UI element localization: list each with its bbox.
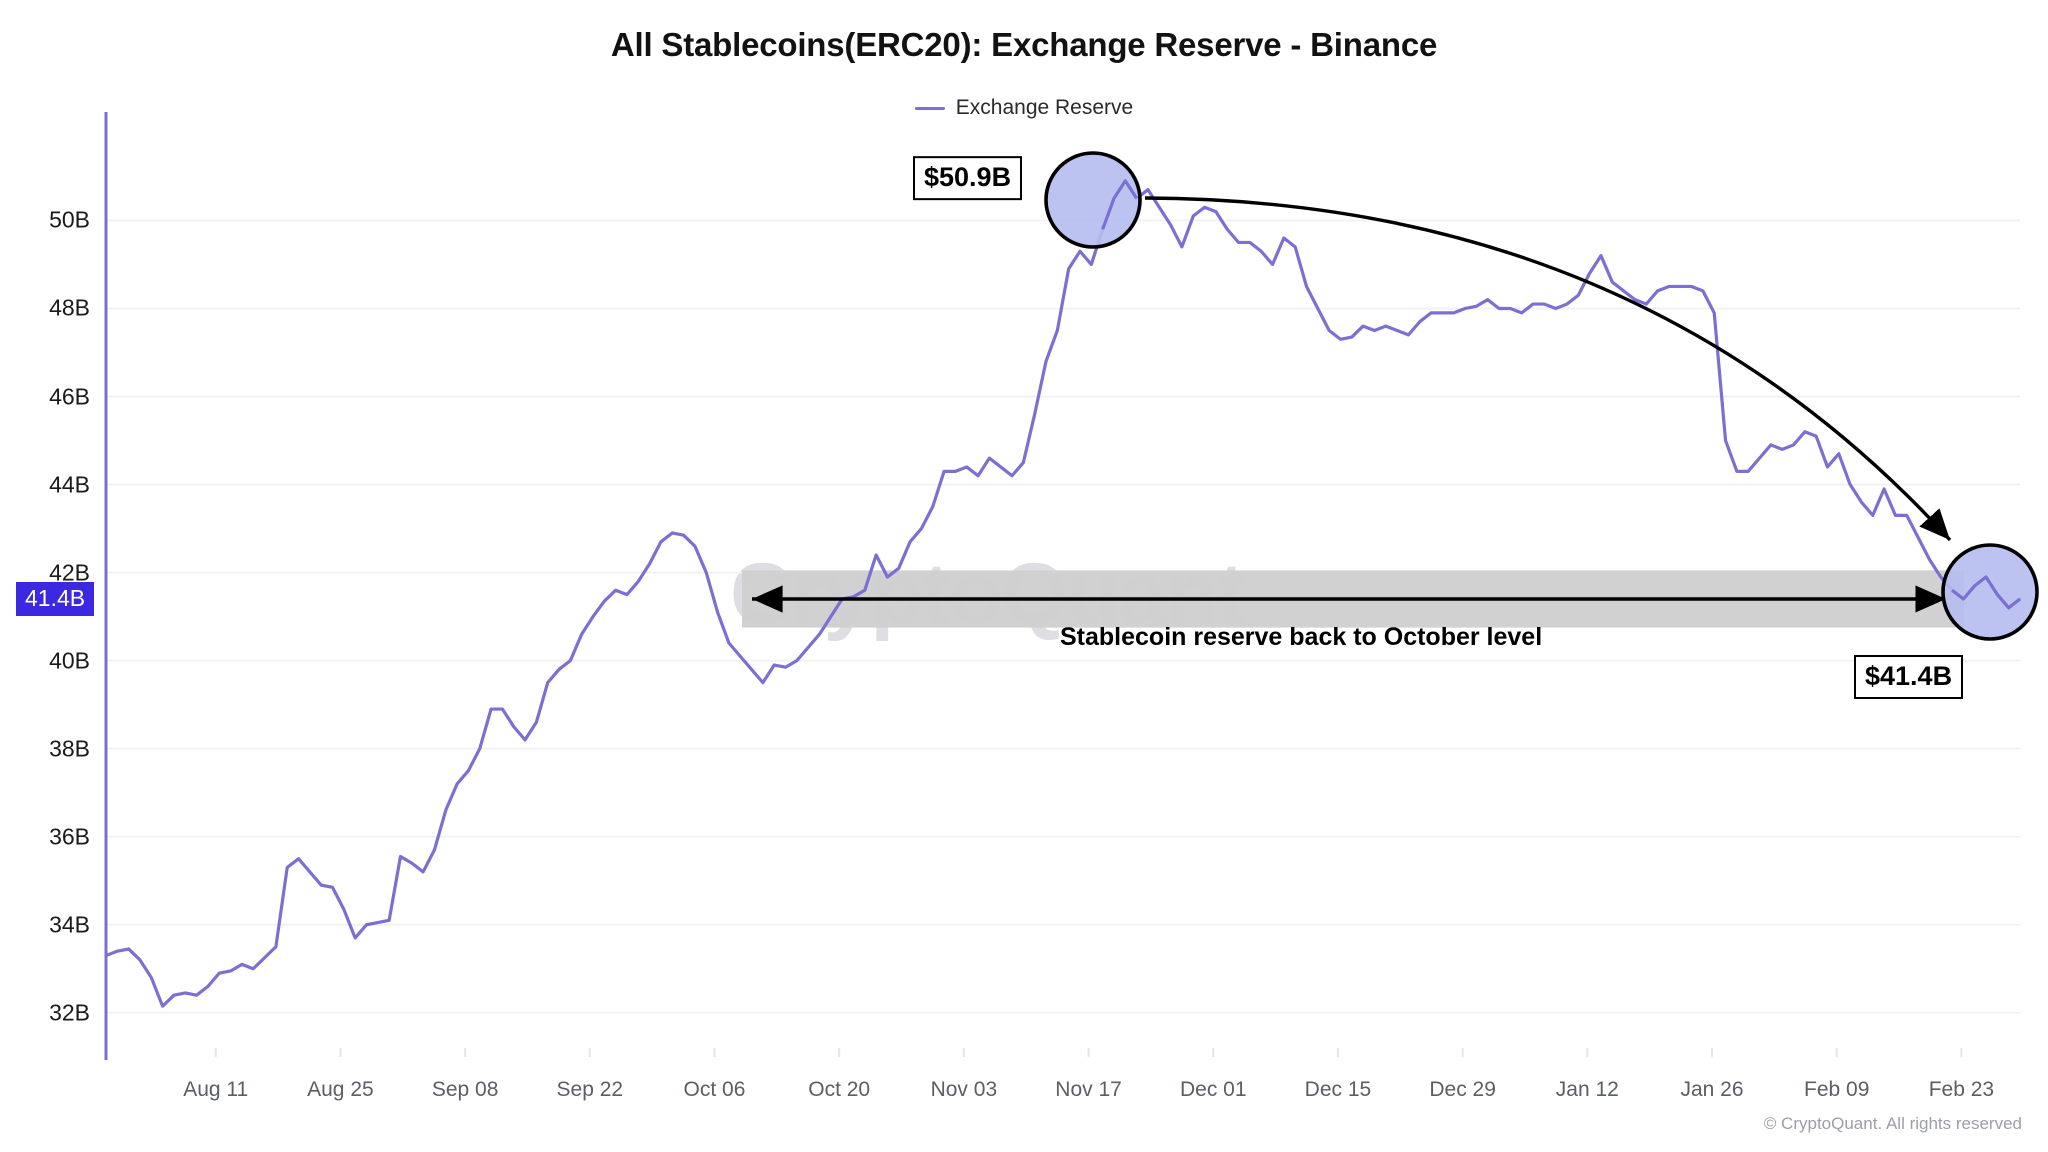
y-axis-tick: 48B (0, 295, 90, 322)
x-axis-tick: Aug 25 (307, 1078, 374, 1102)
y-axis-tick: 44B (0, 471, 90, 498)
x-axis-tick: Nov 03 (931, 1078, 998, 1102)
y-axis-tick: 38B (0, 735, 90, 762)
x-axis-tick: Jan 12 (1556, 1078, 1619, 1102)
decline-curve-arrow (1145, 198, 1950, 540)
copyright-text: © CryptoQuant. All rights reserved (1764, 1114, 2022, 1134)
chart-container: All Stablecoins(ERC20): Exchange Reserve… (0, 0, 2048, 1152)
x-axis-tick: Aug 11 (183, 1078, 248, 1102)
x-axis-tick: Feb 23 (1929, 1078, 1994, 1102)
end-marker-circle (1943, 545, 2037, 639)
x-axis-tick: Sep 22 (557, 1078, 624, 1102)
x-axis-ticks (216, 1048, 1962, 1057)
x-axis-tick: Oct 06 (684, 1078, 746, 1102)
y-axis-tick: 50B (0, 207, 90, 234)
x-axis-tick: Jan 26 (1680, 1078, 1743, 1102)
x-axis-tick: Nov 17 (1055, 1078, 1122, 1102)
x-axis-tick: Dec 01 (1180, 1078, 1247, 1102)
y-axis-tick: 36B (0, 823, 90, 850)
peak-marker-circle (1046, 153, 1140, 247)
end-value-callout: $41.4B (1854, 655, 1963, 699)
y-axis-tick: 32B (0, 999, 90, 1026)
peak-value-callout: $50.9B (913, 156, 1022, 200)
annotation-note: Stablecoin reserve back to October level (1060, 623, 1542, 652)
x-axis-tick: Sep 08 (432, 1078, 499, 1102)
plot-area (0, 0, 2048, 1152)
x-axis-tick: Dec 29 (1429, 1078, 1496, 1102)
x-axis-tick: Feb 09 (1804, 1078, 1869, 1102)
y-axis-value-badge: 41.4B (16, 582, 94, 616)
x-axis-tick: Oct 20 (808, 1078, 870, 1102)
y-axis-tick: 46B (0, 383, 90, 410)
x-axis-tick: Dec 15 (1305, 1078, 1372, 1102)
y-axis-tick: 40B (0, 647, 90, 674)
y-axis-tick: 34B (0, 911, 90, 938)
